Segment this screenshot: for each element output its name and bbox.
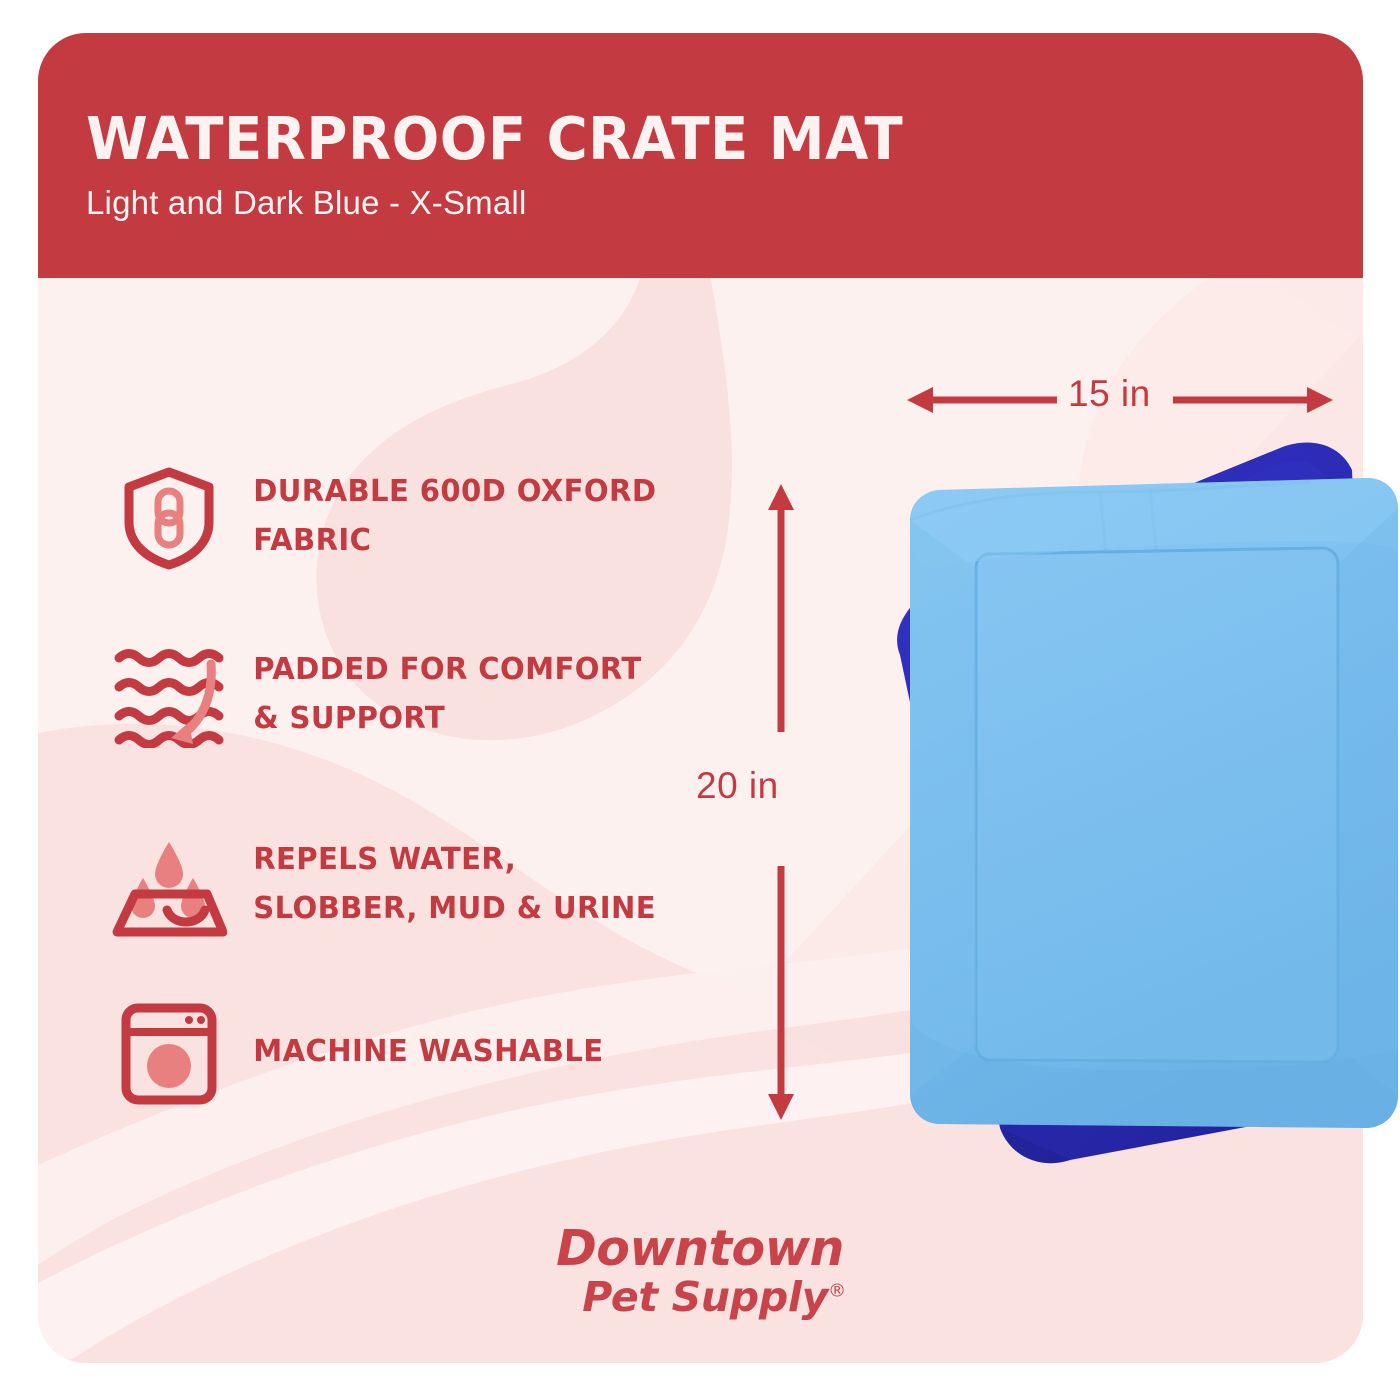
page-subtitle: Light and Dark Blue - X-Small	[86, 185, 1323, 221]
height-dimension-label: 20 in	[696, 765, 779, 807]
feature-item-padded-comfort: PADDED FOR COMFORT & SUPPORT	[110, 640, 720, 752]
feature-label-line1: DURABLE 600D OXFORD	[253, 468, 656, 517]
padding-waves-icon	[110, 640, 228, 752]
brand-name-line1: Downtown	[0, 1224, 1400, 1274]
feature-label-line1: MACHINE WASHABLE	[253, 1028, 603, 1077]
feature-label: REPELS WATER, SLOBBER, MUD & URINE	[228, 830, 656, 933]
feature-label: DURABLE 600D OXFORD FABRIC	[228, 462, 656, 565]
feature-label-line1: PADDED FOR COMFORT	[253, 646, 641, 695]
feature-label: MACHINE WASHABLE	[228, 998, 604, 1077]
brand-name-line2-text: Pet Supply	[582, 1273, 828, 1321]
infographic-canvas: WATERPROOF CRATE MAT Light and Dark Blue…	[0, 0, 1400, 1400]
feature-item-repels-water: REPELS WATER, SLOBBER, MUD & URINE	[110, 830, 720, 942]
light-blue-mat	[910, 478, 1398, 1128]
water-repel-mat-icon	[110, 830, 228, 942]
crate-mat-illustration	[770, 400, 1400, 1200]
feature-label-line2: & SUPPORT	[253, 695, 641, 744]
registered-trademark-icon: ®	[828, 1280, 846, 1301]
header-banner: WATERPROOF CRATE MAT Light and Dark Blue…	[38, 33, 1363, 278]
feature-label: PADDED FOR COMFORT & SUPPORT	[228, 640, 642, 743]
product-image	[770, 400, 1400, 1200]
feature-label-line1: REPELS WATER,	[253, 836, 656, 885]
page-title: WATERPROOF CRATE MAT	[86, 109, 1261, 168]
feature-label-line2: SLOBBER, MUD & URINE	[253, 885, 656, 934]
feature-item-durable-fabric: DURABLE 600D OXFORD FABRIC	[110, 462, 720, 574]
shield-link-icon	[110, 462, 228, 574]
brand-logo: Downtown Pet Supply®	[0, 1224, 1400, 1321]
feature-list: DURABLE 600D OXFORD FABRIC	[110, 462, 720, 1110]
feature-label-line2: FABRIC	[253, 517, 656, 566]
washing-machine-icon	[110, 998, 228, 1110]
brand-name-line2: Pet Supply®	[14, 1274, 1400, 1321]
feature-item-machine-washable: MACHINE WASHABLE	[110, 998, 720, 1110]
